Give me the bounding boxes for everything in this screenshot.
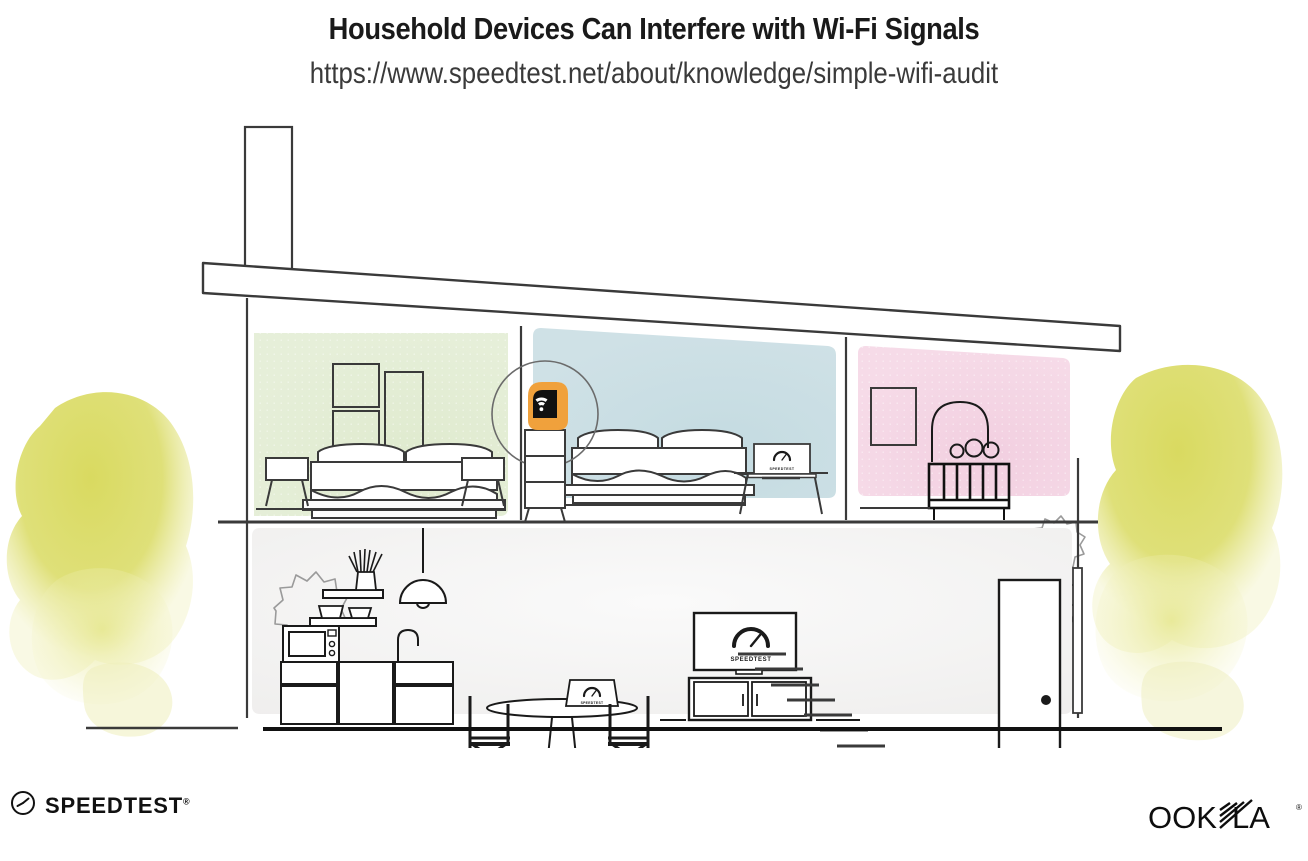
page-footer: SPEEDTEST® OOK LA ® (0, 790, 1308, 850)
laptop-brand-text: SPEEDTEST (770, 467, 795, 471)
kitchen-counters (281, 662, 453, 724)
shelving-unit (525, 430, 565, 522)
plant-shelf (323, 590, 383, 598)
laptop-dining: SPEEDTEST (566, 680, 618, 706)
page-url: https://www.speedtest.net/about/knowledg… (92, 56, 1217, 92)
page-header: Household Devices Can Interfere with Wi-… (0, 0, 1308, 92)
bed-second (564, 430, 754, 503)
ookla-wordmark-text: OOK (1148, 800, 1217, 835)
front-door[interactable] (999, 580, 1060, 748)
door-knob-icon[interactable] (1041, 695, 1051, 705)
ground-line (86, 728, 1222, 729)
microwave (283, 626, 339, 662)
house-illustration: SPEEDTEST (0, 108, 1308, 748)
chimney (245, 127, 292, 280)
foliage-right (1092, 365, 1282, 740)
tv-brand-text: SPEEDTEST (730, 657, 771, 663)
room-nursery (858, 346, 1070, 496)
speedtest-wordmark: SPEEDTEST® (45, 793, 190, 819)
speedtest-brand: SPEEDTEST® (10, 790, 190, 821)
television: SPEEDTEST (694, 613, 796, 674)
ookla-wordmark-text-2: LA (1232, 800, 1270, 835)
drain-downpipe (1073, 568, 1082, 713)
wifi-router[interactable] (528, 382, 568, 430)
laptop-brand-text: SPEEDTEST (581, 701, 604, 705)
speedometer-icon (10, 790, 36, 821)
laptop-bedroom: SPEEDTEST (748, 444, 816, 478)
ookla-brand: OOK LA ® (1144, 794, 1308, 845)
ookla-trademark: ® (1296, 803, 1302, 812)
illustration-page: Household Devices Can Interfere with Wi-… (0, 0, 1308, 861)
foliage-left (7, 392, 193, 737)
page-title: Household Devices Can Interfere with Wi-… (78, 10, 1229, 47)
speedtest-trademark: ® (183, 796, 190, 806)
bowls-shelf (310, 618, 376, 626)
speedtest-wordmark-text: SPEEDTEST (45, 793, 183, 818)
